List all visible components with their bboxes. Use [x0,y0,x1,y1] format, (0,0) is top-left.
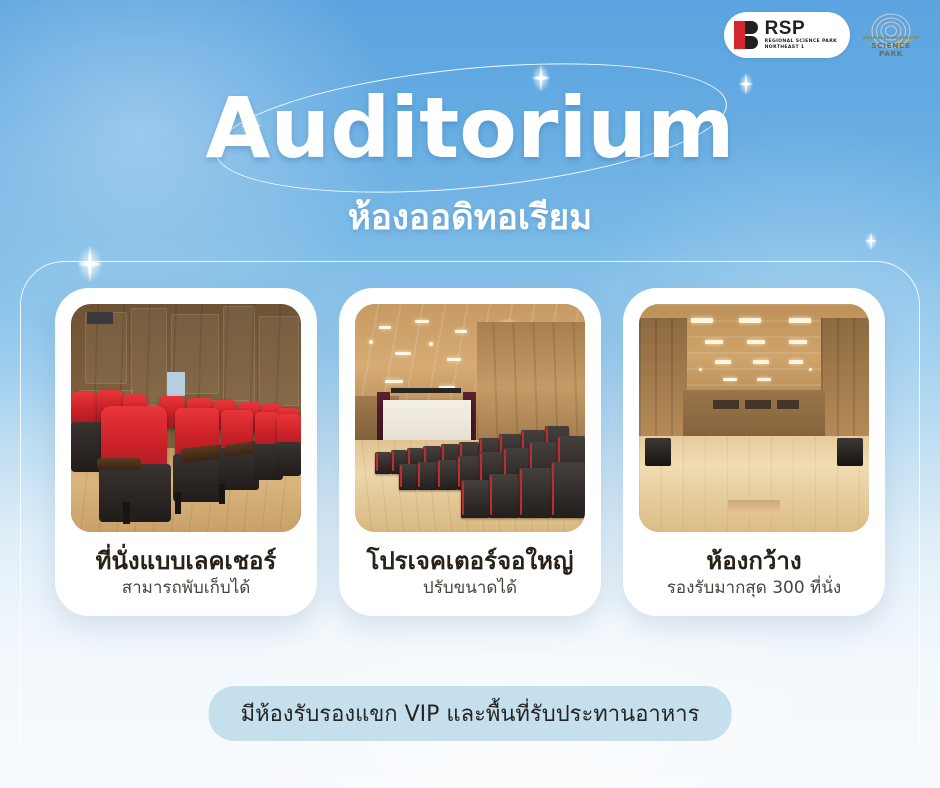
rsp-logo-line2: NORTHEAST 1 [765,46,837,51]
kku-logo-line1: KHON KAEN UNIVERSITY [860,37,922,41]
feature-card-title: ที่นั่งแบบเลคเชอร์ [96,548,277,576]
feature-card[interactable]: ที่นั่งแบบเลคเชอร์ สามารถพับเก็บได้ [55,288,317,616]
rsp-logo: RSP REGIONAL SCIENCE PARK NORTHEAST 1 [724,12,850,57]
feature-card-list: ที่นั่งแบบเลคเชอร์ สามารถพับเก็บได้ [0,288,940,616]
title-area: Auditorium [0,62,940,192]
feature-card-title: โปรเจคเตอร์จอใหญ่ [367,548,574,576]
kku-logo-line2: SCIENCE PARK [860,42,922,57]
feature-card[interactable]: โปรเจคเตอร์จอใหญ่ ปรับขนาดได้ [339,288,601,616]
feature-card-subtitle: รองรับมากสุด 300 ที่นั่ง [667,579,841,599]
page-title: Auditorium [0,86,940,170]
rsp-logo-abbr: RSP [765,19,837,38]
feature-card[interactable]: ห้องกว้าง รองรับมากสุด 300 ที่นั่ง [623,288,885,616]
feature-card-subtitle: ปรับขนาดได้ [367,579,574,599]
feature-card-subtitle: สามารถพับเก็บได้ [96,579,277,599]
logo-group: RSP REGIONAL SCIENCE PARK NORTHEAST 1 KH… [724,12,922,58]
wide-auditorium-photo [639,304,869,532]
footer-banner: มีห้องรับรองแขก VIP และพื้นที่รับประทานอ… [209,686,732,741]
lecture-seating-photo [71,304,301,532]
projector-screen-hall-photo [355,304,585,532]
poster-root: RSP REGIONAL SCIENCE PARK NORTHEAST 1 KH… [0,0,940,788]
rsp-mark-icon [734,21,758,49]
kku-science-park-logo: KHON KAEN UNIVERSITY SCIENCE PARK [860,12,922,58]
feature-card-title: ห้องกว้าง [667,548,841,576]
page-subtitle: ห้องออดิทอเรียม [0,190,940,245]
